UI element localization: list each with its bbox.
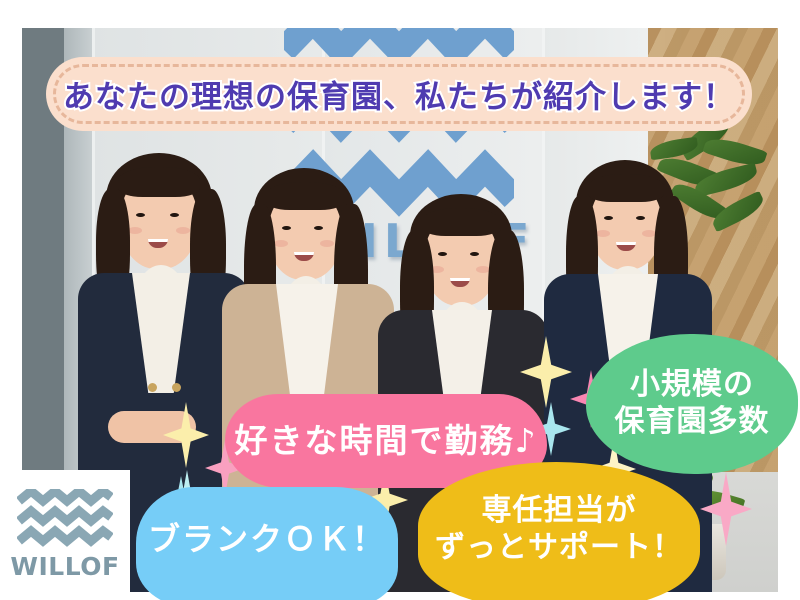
brand-logo-card: WILLOF <box>0 470 130 600</box>
bubble-career-gap-ok: ブランクＯＫ！ <box>136 487 398 600</box>
brand-wordmark: WILLOF <box>10 552 119 581</box>
bubble-small-nurseries: 小規模の 保育園多数 <box>586 334 798 474</box>
headline-banner: あなたの理想の保育園、私たちが紹介します！ <box>46 57 752 131</box>
poster-root: WILLOF <box>0 0 800 600</box>
bubble-dedicated-support: 専任担当が ずっとサポート！ <box>418 462 700 600</box>
headline-text: あなたの理想の保育園、私たちが紹介します！ <box>46 72 752 117</box>
willof-zigzag-icon <box>17 489 113 547</box>
